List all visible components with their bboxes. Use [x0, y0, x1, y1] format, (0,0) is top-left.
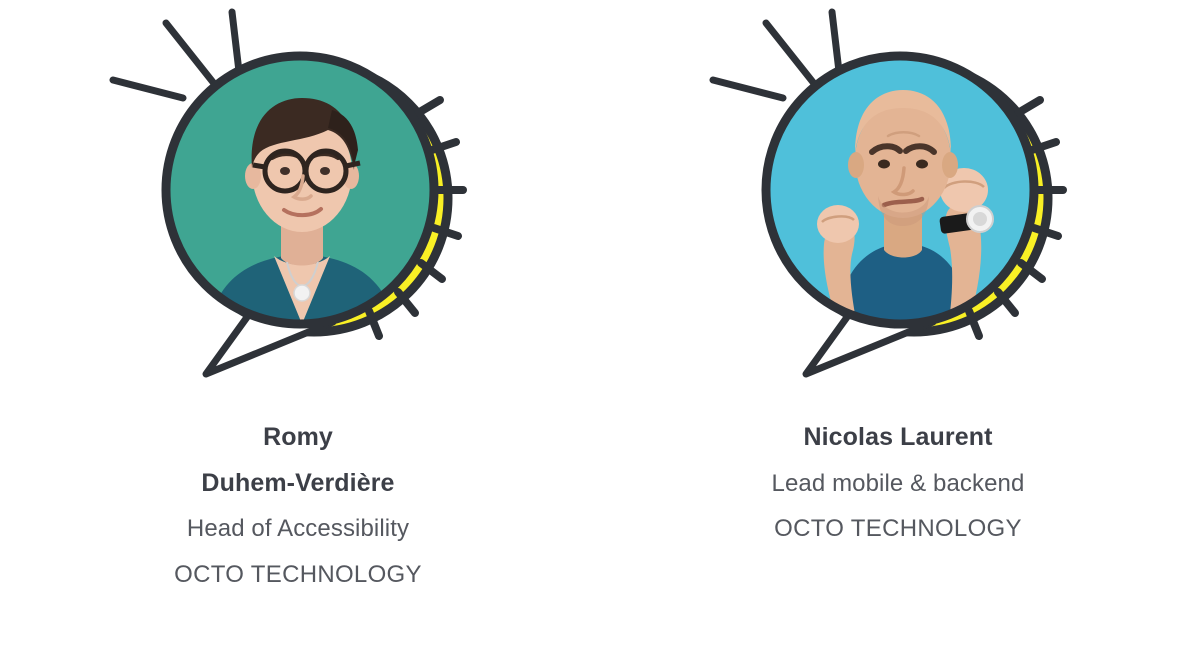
speaker-role: Head of Accessibility [88, 506, 508, 552]
speaker-name: Nicolas Laurent [688, 415, 1108, 461]
speaker-company: OCTO TECHNOLOGY [88, 552, 508, 598]
speech-bubble-avatar-icon [88, 0, 508, 400]
speech-bubble-avatar-icon [688, 0, 1108, 400]
speakers-row: Romy Duhem-Verdière Head of Accessibilit… [0, 0, 1182, 662]
speaker-card: Nicolas Laurent Lead mobile & backend OC… [688, 0, 1108, 662]
speaker-role: Lead mobile & backend [688, 461, 1108, 507]
avatar [688, 0, 1108, 400]
avatar [88, 0, 508, 400]
speaker-company: OCTO TECHNOLOGY [688, 506, 1108, 552]
speaker-details: Romy Duhem-Verdière Head of Accessibilit… [88, 415, 508, 597]
speaker-details: Nicolas Laurent Lead mobile & backend OC… [688, 415, 1108, 552]
speaker-card: Romy Duhem-Verdière Head of Accessibilit… [88, 0, 508, 662]
speaker-name: Romy Duhem-Verdière [88, 415, 508, 506]
